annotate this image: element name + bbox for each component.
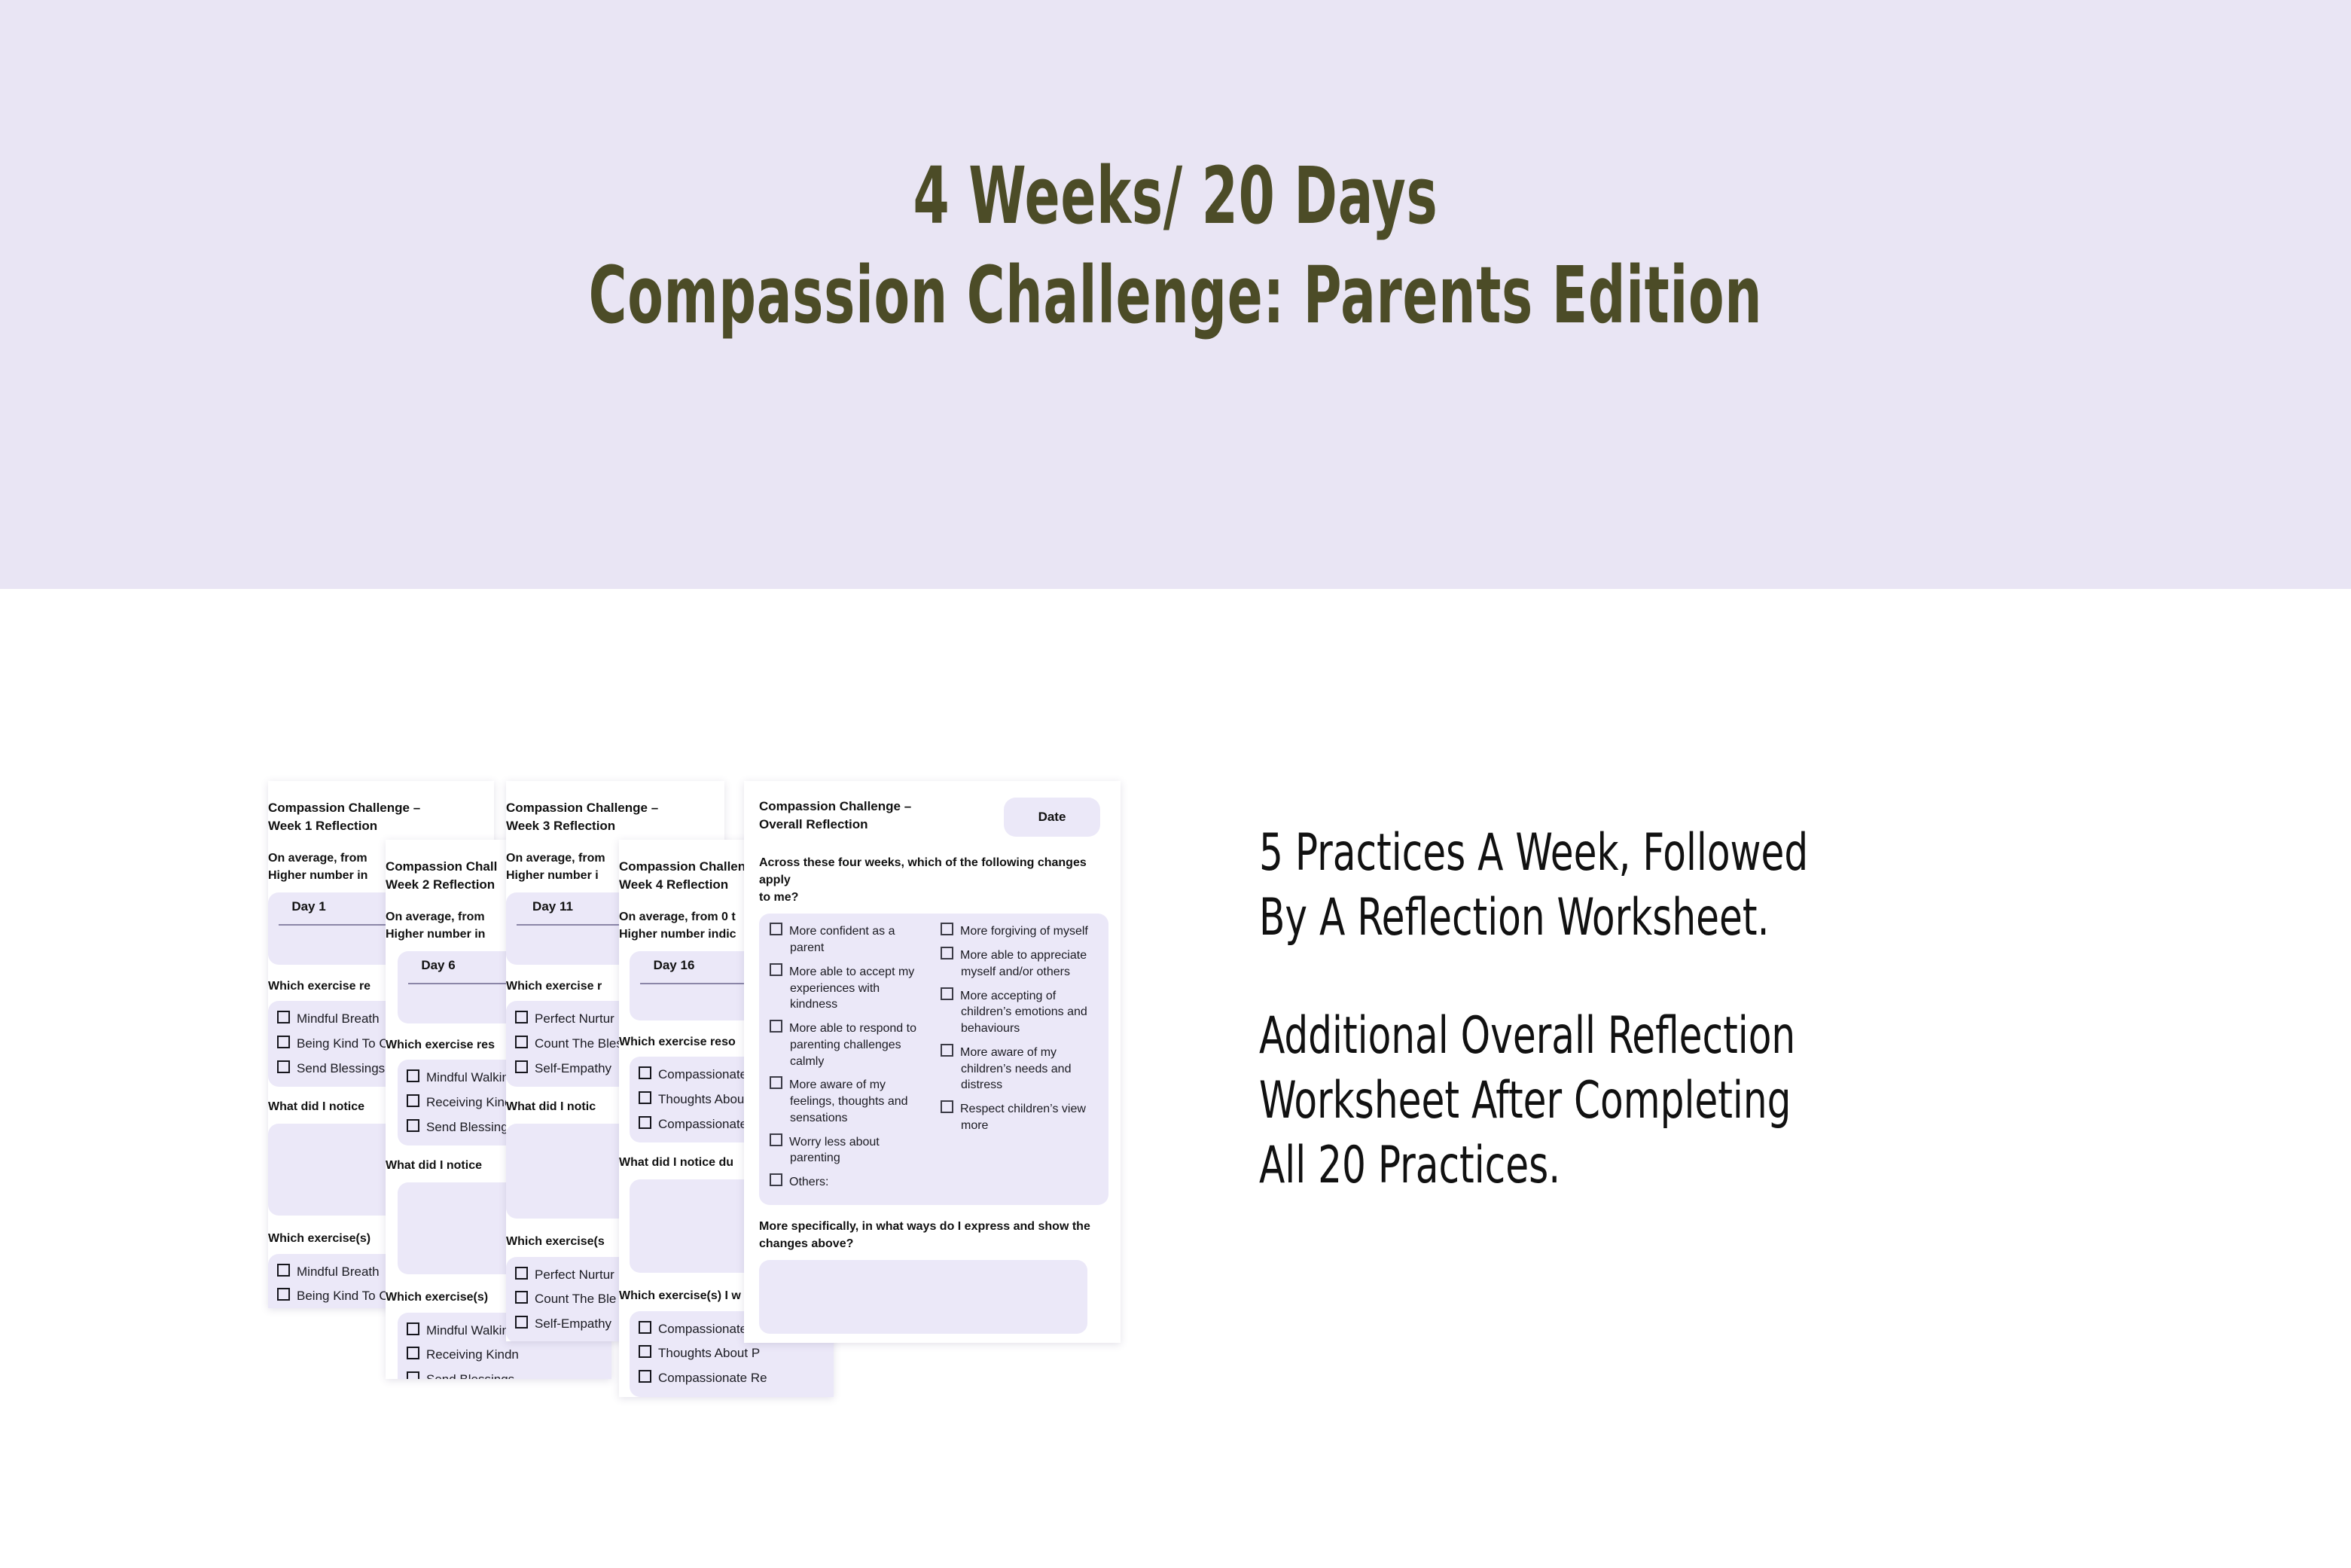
change-left-2[interactable]: More able to accept my experiences with … <box>770 963 927 1013</box>
date-field[interactable]: Date <box>1004 798 1100 837</box>
change-right-2[interactable]: More able to appreciate myself and/or ot… <box>941 947 1098 981</box>
worksheet-overall-reflection[interactable]: Compassion Challenge – Overall Reflectio… <box>744 781 1121 1343</box>
week2-option-b-2-label: Receiving Kindn <box>426 1347 519 1362</box>
week3-day-1: Day 11 <box>506 899 599 914</box>
week3-title-line-1: Compassion Challenge – <box>506 799 724 817</box>
week3-option-a-2-label: Count The Bles <box>535 1036 623 1051</box>
checkbox-icon[interactable] <box>277 1011 290 1023</box>
change-right-1[interactable]: More forgiving of myself <box>941 923 1098 940</box>
week2-option-a-2-label: Receiving Kindn <box>426 1095 519 1109</box>
overall-q-specific-line-2: changes above? <box>759 1236 1105 1253</box>
week3-title-line-2: Week 3 Reflection <box>506 817 724 835</box>
overall-q-changes-line-2: to me? <box>759 889 1105 907</box>
worksheet-stack: Compassion Challenge – Week 1 Reflection… <box>0 0 2351 1568</box>
checkbox-icon[interactable] <box>941 923 953 935</box>
week3-option-b-2-label: Count The Ble <box>535 1292 616 1306</box>
week1-option-b-2-label: Being Kind To C <box>297 1289 389 1303</box>
checkbox-icon[interactable] <box>515 1291 528 1304</box>
checkbox-icon[interactable] <box>770 1076 782 1089</box>
checkbox-icon[interactable] <box>639 1321 651 1334</box>
week3-option-a-1-label: Perfect Nurtur <box>535 1011 614 1026</box>
checkbox-icon[interactable] <box>941 987 953 1000</box>
week4-option-b-3-label: Compassionate Re <box>658 1371 767 1385</box>
checkbox-icon[interactable] <box>639 1116 651 1129</box>
overall-changes-checklist[interactable]: More confident as a parent More able to … <box>759 914 1108 1205</box>
week1-day-1: Day 1 <box>268 899 349 914</box>
week4-option-b-3[interactable]: Compassionate Re <box>639 1366 834 1391</box>
checkbox-icon[interactable] <box>639 1066 651 1079</box>
checkbox-icon[interactable] <box>277 1060 290 1073</box>
checkbox-icon[interactable] <box>941 947 953 959</box>
week1-title-line-2: Week 1 Reflection <box>268 817 494 835</box>
week2-option-b-3-label: Send Blessings <box>426 1372 514 1379</box>
changes-column-left: More confident as a parent More able to … <box>770 923 927 1197</box>
checkbox-icon[interactable] <box>407 1094 419 1107</box>
week2-option-b-2[interactable]: Receiving Kindn <box>407 1343 611 1368</box>
checkbox-icon[interactable] <box>770 1173 782 1186</box>
change-left-4-label: More aware of my feelings, thoughts and … <box>789 1078 908 1124</box>
checkbox-icon[interactable] <box>639 1091 651 1104</box>
checkbox-icon[interactable] <box>407 1322 419 1335</box>
checkbox-icon[interactable] <box>515 1267 528 1280</box>
changes-column-right: More forgiving of myself More able to ap… <box>941 923 1098 1197</box>
date-label: Date <box>1038 810 1066 825</box>
checkbox-icon[interactable] <box>515 1060 528 1073</box>
checkbox-icon[interactable] <box>407 1347 419 1359</box>
change-left-1-label: More confident as a parent <box>789 925 895 954</box>
change-right-5-label: Respect children’s view more <box>960 1103 1086 1132</box>
week3-option-b-3-label: Self-Empathy <box>535 1316 611 1331</box>
change-right-2-label: More able to appreciate myself and/or ot… <box>960 949 1087 978</box>
week4-option-b-2[interactable]: Thoughts About P <box>639 1341 834 1366</box>
change-left-2-label: More able to accept my experiences with … <box>789 966 914 1011</box>
week3-option-a-3-label: Self-Empathy <box>535 1061 611 1075</box>
change-left-1[interactable]: More confident as a parent <box>770 923 927 956</box>
checkbox-icon[interactable] <box>277 1288 290 1301</box>
checkbox-icon[interactable] <box>770 1020 782 1033</box>
week2-option-a-3-label: Send Blessings <box>426 1120 514 1134</box>
week2-option-b-1-label: Mindful Walkin <box>426 1323 509 1338</box>
week2-option-a-1-label: Mindful Walkin <box>426 1070 509 1084</box>
change-right-3[interactable]: More accepting of children’s emotions an… <box>941 987 1098 1037</box>
change-left-6[interactable]: Others: <box>770 1173 927 1191</box>
checkbox-icon[interactable] <box>941 1044 953 1057</box>
week1-option-b-1-label: Mindful Breath <box>297 1264 380 1279</box>
change-right-1-label: More forgiving of myself <box>960 925 1088 938</box>
week3-option-b-1-label: Perfect Nurtur <box>535 1268 614 1282</box>
checkbox-icon[interactable] <box>515 1011 528 1023</box>
checkbox-icon[interactable] <box>639 1370 651 1383</box>
overall-q-specific-line-1: More specifically, in what ways do I exp… <box>759 1219 1105 1236</box>
change-left-5-label: Worry less about parenting <box>789 1136 880 1165</box>
change-right-4[interactable]: More aware of my children’s needs and di… <box>941 1044 1098 1094</box>
change-right-4-label: More aware of my children’s needs and di… <box>960 1046 1071 1092</box>
week2-day-1: Day 6 <box>398 958 479 973</box>
overall-q-changes-line-1: Across these four weeks, which of the fo… <box>759 855 1105 889</box>
week2-option-b-3[interactable]: Send Blessings <box>407 1368 611 1379</box>
checkbox-icon[interactable] <box>515 1036 528 1048</box>
change-right-5[interactable]: Respect children’s view more <box>941 1100 1098 1134</box>
checkbox-icon[interactable] <box>277 1036 290 1048</box>
overall-specific-answer-box[interactable] <box>759 1260 1087 1334</box>
checkbox-icon[interactable] <box>515 1316 528 1329</box>
week1-title-line-1: Compassion Challenge – <box>268 799 494 817</box>
change-left-3-label: More able to respond to parenting challe… <box>789 1022 916 1068</box>
checkbox-icon[interactable] <box>941 1100 953 1113</box>
checkbox-icon[interactable] <box>277 1264 290 1277</box>
checkbox-icon[interactable] <box>770 963 782 976</box>
week1-option-a-3-label: Send Blessings <box>297 1061 385 1075</box>
change-left-4[interactable]: More aware of my feelings, thoughts and … <box>770 1076 927 1126</box>
checkbox-icon[interactable] <box>639 1345 651 1358</box>
week1-option-a-2-label: Being Kind To C <box>297 1036 389 1051</box>
checkbox-icon[interactable] <box>407 1119 419 1132</box>
week4-option-b-2-label: Thoughts About P <box>658 1346 760 1360</box>
change-left-6-label: Others: <box>789 1176 828 1188</box>
checkbox-icon[interactable] <box>407 1069 419 1082</box>
change-left-5[interactable]: Worry less about parenting <box>770 1133 927 1167</box>
checkbox-icon[interactable] <box>770 1133 782 1146</box>
change-left-3[interactable]: More able to respond to parenting challe… <box>770 1020 927 1069</box>
change-right-3-label: More accepting of children’s emotions an… <box>960 990 1087 1036</box>
checkbox-icon[interactable] <box>407 1371 419 1379</box>
week1-option-a-1-label: Mindful Breath <box>297 1011 380 1026</box>
checkbox-icon[interactable] <box>770 923 782 935</box>
week4-day-1: Day 16 <box>630 958 718 973</box>
